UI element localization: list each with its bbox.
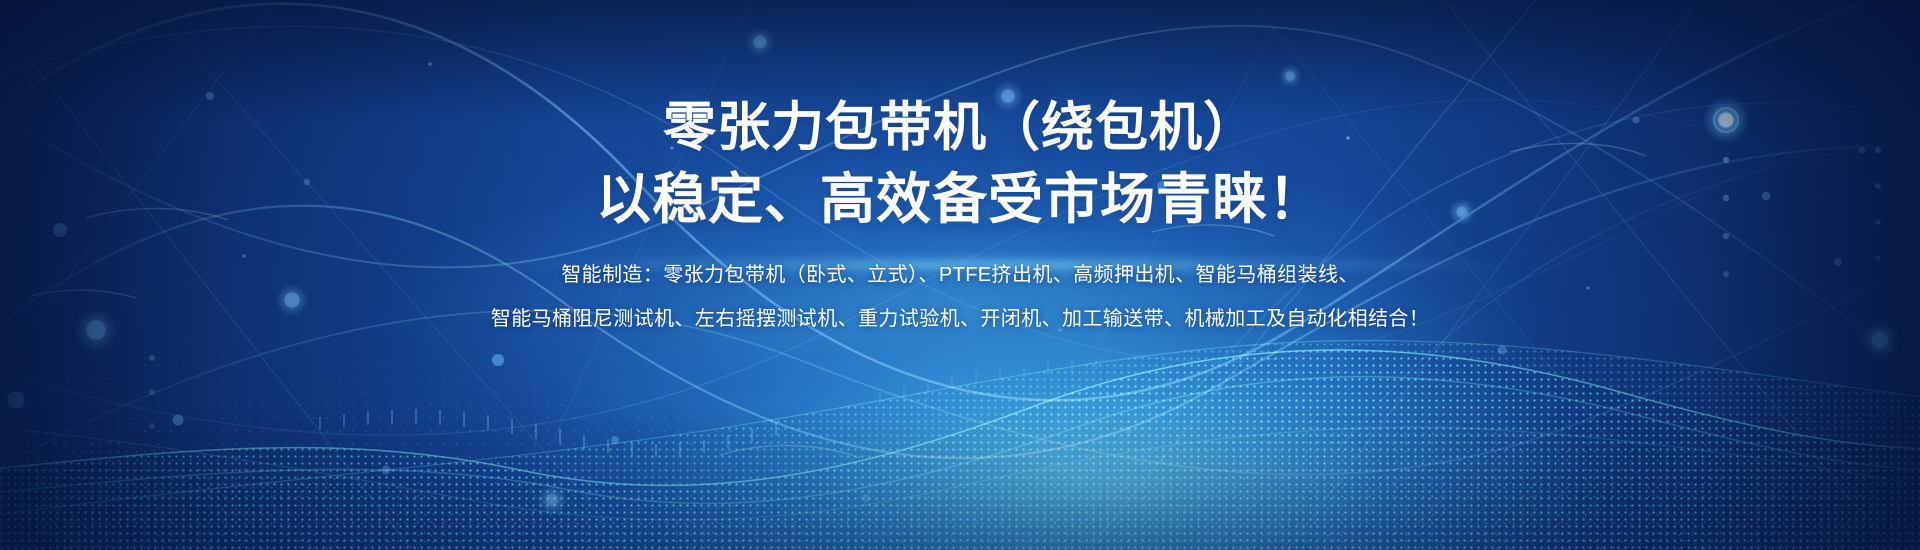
banner-content: 零张力包带机（绕包机） 以稳定、高效备受市场青睐！ 智能制造：零张力包带机（卧式…: [0, 0, 1920, 341]
headline-line-2: 以稳定、高效备受市场青睐！: [0, 168, 1920, 230]
subtitle-line-2: 智能马桶阻尼测试机、左右摇摆测试机、重力试验机、开闭机、加工输送带、机械加工及自…: [0, 297, 1920, 341]
hero-banner: 零张力包带机（绕包机） 以稳定、高效备受市场青睐！ 智能制造：零张力包带机（卧式…: [0, 0, 1920, 550]
subtitle-line-1: 智能制造：零张力包带机（卧式、立式）、PTFE挤出机、高频押出机、智能马桶组装线…: [0, 253, 1920, 297]
headline-line-1: 零张力包带机（绕包机）: [0, 98, 1920, 158]
